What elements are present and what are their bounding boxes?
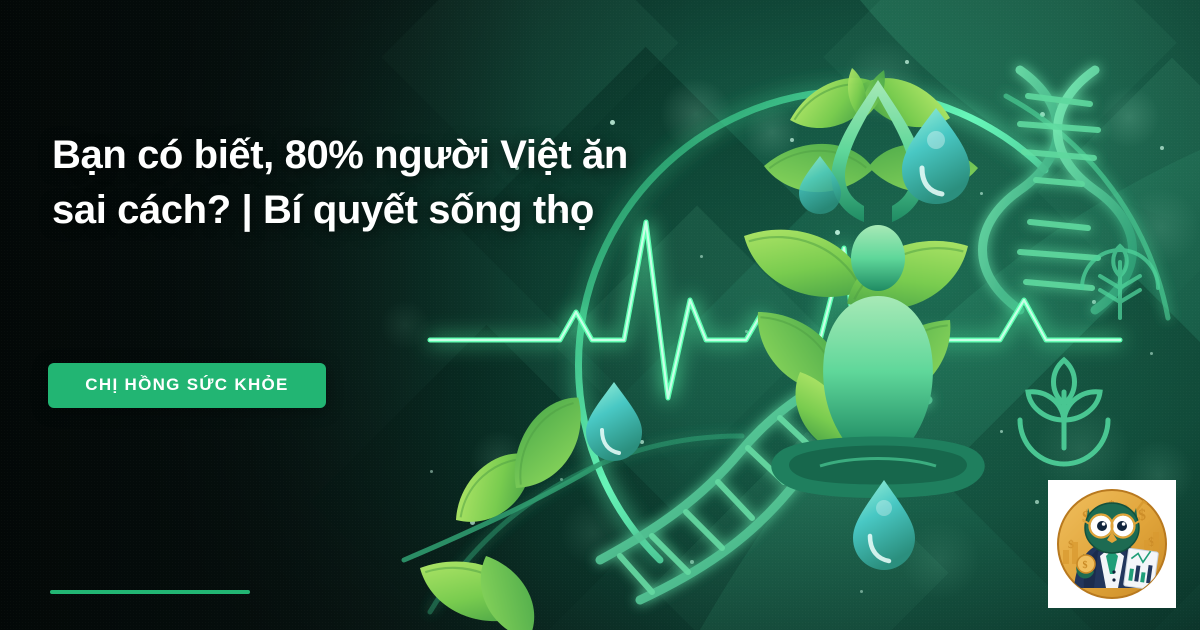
brand-logo[interactable]: $ $ $ $ $: [1048, 480, 1176, 608]
decorative-underline: [50, 590, 250, 594]
sprout-emblem: [1020, 360, 1108, 464]
water-droplet-mid: [586, 382, 642, 461]
svg-text:$: $: [1083, 560, 1088, 571]
channel-name-badge[interactable]: CHỊ HỒNG SỨC KHỎE: [48, 363, 326, 408]
thumbnail-canvas: Bạn có biết, 80% người Việt ăn sai cách?…: [0, 0, 1200, 630]
owl-mascot-icon: $ $ $ $ $: [1048, 480, 1176, 608]
page-title: Bạn có biết, 80% người Việt ăn sai cách?…: [52, 128, 672, 238]
leaf-branch: [404, 383, 600, 630]
health-illustration: [0, 0, 1200, 630]
